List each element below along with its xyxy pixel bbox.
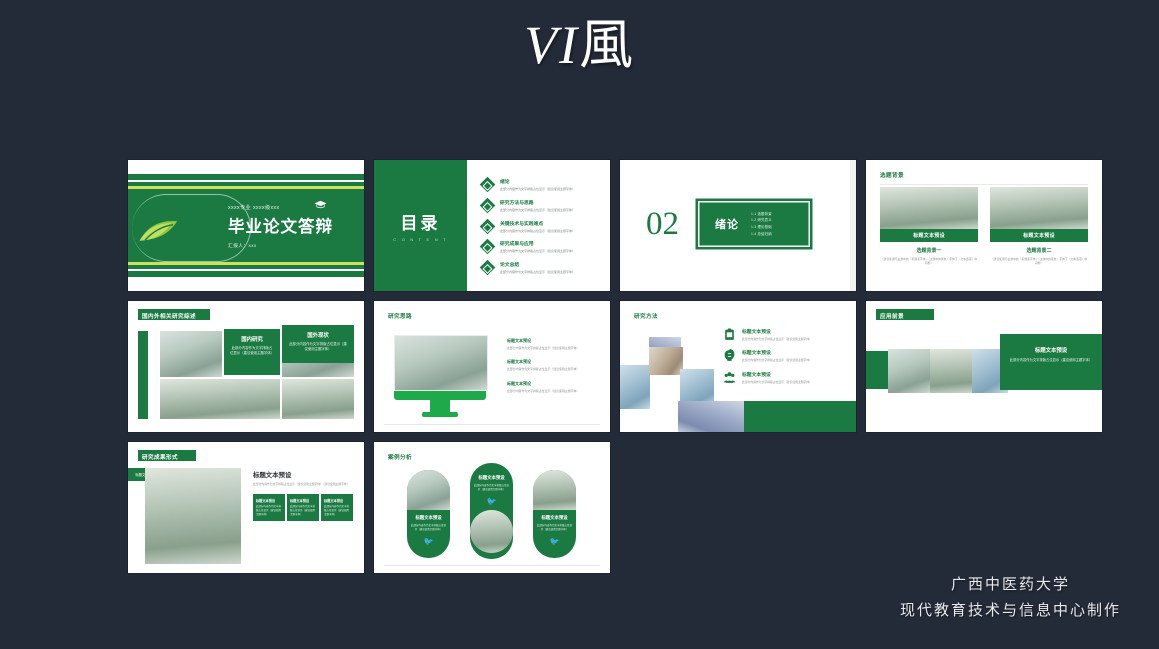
list-item-label: 研究方法与思路 bbox=[500, 199, 575, 206]
list-item-heading: 标题文本预设 bbox=[507, 359, 595, 365]
slide-thumbnail-literature-review[interactable]: 国内外相关研究综述 国内研究 此部分内容作为文字排版占位显示（建议使用主题字体）… bbox=[128, 301, 364, 432]
slide-thumbnail-section-divider[interactable]: 02 绪论 1.1 选题背景 1.2 研究意义 1.3 理论基础 1.4 总结归… bbox=[620, 160, 856, 291]
case-pill-card[interactable]: 标题文本预设 此部分内容作为文字排版占位显示（建议使用主题字体） 🐦 bbox=[533, 470, 576, 558]
section-subitem: 1.3 理论基础 bbox=[751, 224, 772, 231]
footer-line-1: 广西中医药大学 bbox=[900, 571, 1121, 597]
monitor-neck bbox=[430, 400, 450, 412]
box-body: 此部分内容作为文字排版占位显示（建议使用主题字体） bbox=[290, 505, 316, 516]
slide-thumbnail-research-approach[interactable]: 研究思路 标题文本预设 此部分内容作为文字排版占位显示（建议使用主题字体） 标题… bbox=[374, 301, 610, 432]
card-heading: 国外现状 bbox=[288, 331, 348, 339]
card-heading: 标题文本预设 bbox=[533, 515, 576, 521]
card-label: 标题文本预设 bbox=[880, 229, 978, 242]
list-item-label: 绪论 bbox=[500, 178, 575, 185]
band-yellow-line-bottom bbox=[128, 262, 364, 265]
list-item-desc: 此部分内容作为文字排版占位显示（建议使用主题字体） bbox=[500, 229, 575, 233]
clipboard-icon bbox=[723, 328, 736, 341]
band-white-line-top bbox=[128, 180, 364, 182]
results-text-block: 标题文本预设 此部分内容作为文字排版占位显示（建议使用主题字体）（建议使用主题字… bbox=[253, 470, 353, 521]
list-item[interactable]: 标题文本预设 此部分内容作为文字排版占位显示（建议使用主题字体） bbox=[507, 381, 595, 393]
result-box[interactable]: 标题文本预设 此部分内容作为文字排版占位显示（建议使用主题字体） bbox=[321, 494, 353, 520]
list-item[interactable]: 关键技术与实践难点 此部分内容作为文字排版占位显示（建议使用主题字体） bbox=[482, 220, 602, 233]
list-item[interactable]: 研究方法与思路 此部分内容作为文字排版占位显示（建议使用主题字体） bbox=[482, 199, 602, 212]
photo-placeholder bbox=[649, 347, 683, 375]
section-number: 02 bbox=[646, 206, 679, 243]
panel-body: 此部分内容作为文字排版占位显示（建议使用主题字体） bbox=[1008, 358, 1094, 363]
card-heading: 标题文本预设 bbox=[470, 475, 513, 481]
diamond-bullet-icon bbox=[480, 218, 496, 234]
photo-placeholder bbox=[160, 331, 222, 377]
brand-title: VI風 bbox=[0, 18, 1159, 72]
card-body: 此部分内容作为文字排版占位显示（建议使用主题字体） bbox=[288, 342, 348, 353]
section-subitem: 1.4 总结归纳 bbox=[751, 231, 772, 238]
list-item[interactable]: 论文总结 此部分内容作为文字排版占位显示（建议使用主题字体） bbox=[482, 261, 602, 274]
page-title: 国内外相关研究综述 bbox=[142, 312, 196, 320]
box-body: 此部分内容作为文字排版占位显示（建议使用主题字体） bbox=[324, 505, 350, 516]
page-title: 研究方法 bbox=[634, 312, 658, 320]
list-item[interactable]: 标题文本预设 此部分内容作为文字排版占位显示（建议使用主题字体） bbox=[723, 328, 841, 341]
list-item-heading: 标题文本预设 bbox=[742, 349, 812, 356]
band-yellow-line-top bbox=[128, 186, 364, 189]
list-item[interactable]: 标题文本预设 此部分内容作为文字排版占位显示（建议使用主题字体） bbox=[507, 338, 595, 350]
green-accent-strip bbox=[138, 331, 148, 419]
diamond-bullet-icon bbox=[480, 198, 496, 214]
monitor-base bbox=[394, 391, 486, 400]
contents-title: 目录 bbox=[401, 209, 441, 234]
bird-icon: 🐦 bbox=[470, 497, 513, 506]
box-heading: 标题文本预设 bbox=[324, 498, 350, 503]
card-body: 此部分内容作为文字排版占位显示（建议使用主题字体） bbox=[230, 346, 274, 357]
contents-subtitle: C O N T E N T bbox=[393, 237, 447, 242]
contents-green-panel: 目录 C O N T E N T bbox=[374, 160, 467, 291]
head-brain-icon bbox=[723, 349, 736, 362]
section-subitem: 1.1 选题背景 bbox=[751, 211, 772, 218]
panel-heading: 标题文本预设 bbox=[1008, 346, 1094, 354]
card-subtitle: 选题背景二 bbox=[990, 247, 1088, 254]
monitor-graphic bbox=[394, 335, 486, 417]
list-item-body: 此部分内容作为文字排版占位显示（建议使用主题字体） bbox=[742, 358, 812, 362]
page-title: 应用前景 bbox=[880, 312, 904, 320]
title-text-block: xxxx专业 xxxx级xxx 毕业论文答辩 汇报人：xxx bbox=[228, 204, 333, 249]
list-item-desc: 此部分内容作为文字排版占位显示（建议使用主题字体） bbox=[500, 270, 575, 274]
results-box-row: 标题文本预设 此部分内容作为文字排版占位显示（建议使用主题字体） 标题文本预设 … bbox=[253, 494, 353, 520]
photo-placeholder bbox=[470, 510, 513, 553]
box-heading: 标题文本预设 bbox=[256, 498, 282, 503]
bird-icon: 🐦 bbox=[407, 537, 450, 546]
section-subitem-list: 1.1 选题背景 1.2 研究意义 1.3 理论基础 1.4 总结归纳 bbox=[751, 211, 772, 238]
list-item-body: 此部分内容作为文字排版占位显示（建议使用主题字体） bbox=[742, 380, 812, 384]
section-title: 绪论 bbox=[715, 216, 739, 232]
result-box[interactable]: 标题文本预设 此部分内容作为文字排版占位显示（建议使用主题字体） bbox=[287, 494, 319, 520]
background-card[interactable]: 标题文本预设 选题背景一 （建议使用与主题中的「标题黑字体」（主题中的黑色）字体… bbox=[880, 187, 978, 266]
review-card-overseas[interactable]: 国外现状 此部分内容作为文字排版占位显示（建议使用主题字体） bbox=[282, 325, 354, 363]
brand-prefix: VI bbox=[524, 15, 579, 75]
photo-placeholder bbox=[160, 379, 280, 419]
slide-thumbnail-contents[interactable]: 目录 C O N T E N T 绪论 此部分内容作为文字排版占位显示（建议使用… bbox=[374, 160, 610, 291]
prospect-panel[interactable]: 标题文本预设 此部分内容作为文字排版占位显示（建议使用主题字体） bbox=[1000, 334, 1102, 390]
list-item-body: 此部分内容作为文字排版占位显示（建议使用主题字体） bbox=[507, 346, 595, 350]
background-card[interactable]: 标题文本预设 选题背景二 （建议使用与主题中的「标题黑字体」（主题中的黑色）字体… bbox=[990, 187, 1088, 266]
list-item[interactable]: 标题文本预设 此部分内容作为文字排版占位显示（建议使用主题字体） bbox=[507, 359, 595, 371]
page-title: 毕业论文答辩 bbox=[228, 213, 333, 237]
list-item-label: 研究成果与应用 bbox=[500, 240, 575, 247]
card-body: （建议使用与主题中的「标题黑字体」（主题中的黑色）字体下（文本选项）中间框） bbox=[880, 257, 978, 266]
list-item[interactable]: 标题文本预设 此部分内容作为文字排版占位显示（建议使用主题字体） bbox=[723, 349, 841, 362]
slide-thumbnail-case-analysis[interactable]: 案例分析 标题文本预设 此部分内容作为文字排版占位显示（建议使用主题字体） 🐦 … bbox=[374, 442, 610, 573]
title-presenter: 汇报人：xxx bbox=[228, 242, 333, 249]
card-body: 此部分内容作为文字排版占位显示（建议使用主题字体） bbox=[470, 484, 513, 492]
band-white-line-bottom bbox=[128, 269, 364, 271]
list-item-desc: 此部分内容作为文字排版占位显示（建议使用主题字体） bbox=[500, 187, 575, 191]
footer-credit: 广西中医药大学 现代教育技术与信息中心制作 bbox=[900, 571, 1121, 624]
section-heading: 标题文本预设 bbox=[253, 470, 353, 479]
approach-list: 标题文本预设 此部分内容作为文字排版占位显示（建议使用主题字体） 标题文本预设 … bbox=[507, 338, 595, 402]
diamond-bullet-icon bbox=[480, 177, 496, 193]
green-block bbox=[744, 401, 856, 432]
list-item[interactable]: 研究成果与应用 此部分内容作为文字排版占位显示（建议使用主题字体） bbox=[482, 240, 602, 253]
photo-placeholder bbox=[888, 349, 930, 393]
card-label: 标题文本预设 bbox=[990, 229, 1088, 242]
box-body: 此部分内容作为文字排版占位显示（建议使用主题字体） bbox=[256, 505, 282, 516]
graduation-cap-icon bbox=[314, 200, 327, 209]
list-item-desc: 此部分内容作为文字排版占位显示（建议使用主题字体） bbox=[500, 249, 575, 253]
box-heading: 标题文本预设 bbox=[290, 498, 316, 503]
section-subitem: 1.2 研究意义 bbox=[751, 217, 772, 224]
slide-thumbnail-application-prospect[interactable]: 应用前景 标题文本预设 此部分内容作为文字排版占位显示（建议使用主题字体） bbox=[866, 301, 1102, 432]
leaf-logo bbox=[138, 218, 180, 244]
list-item[interactable]: 绪论 此部分内容作为文字排版占位显示（建议使用主题字体） bbox=[482, 178, 602, 191]
list-item-desc: 此部分内容作为文字排版占位显示（建议使用主题字体） bbox=[500, 208, 575, 212]
photo-placeholder bbox=[930, 349, 972, 393]
card-body: 此部分内容作为文字排版占位显示（建议使用主题字体） bbox=[533, 524, 576, 532]
photo-placeholder bbox=[880, 187, 978, 229]
card-heading: 标题文本预设 bbox=[407, 515, 450, 521]
list-item-heading: 标题文本预设 bbox=[742, 371, 812, 378]
contents-list: 绪论 此部分内容作为文字排版占位显示（建议使用主题字体） 研究方法与思路 此部分… bbox=[482, 178, 602, 282]
card-body: （建议使用与主题中的「标题黑字体」（主题中的黑色）字体下（文本选项）中间框） bbox=[990, 257, 1088, 266]
case-pill-card[interactable]: 标题文本预设 此部分内容作为文字排版占位显示（建议使用主题字体） 🐦 bbox=[470, 463, 513, 559]
list-item-body: 此部分内容作为文字排版占位显示（建议使用主题字体） bbox=[742, 337, 812, 341]
card-subtitle: 选题背景一 bbox=[880, 247, 978, 254]
list-item-label: 论文总结 bbox=[500, 261, 575, 268]
page-title: 案例分析 bbox=[388, 453, 412, 461]
title-rule bbox=[880, 184, 1088, 185]
slide-right-edge bbox=[850, 160, 856, 291]
footer-line-2: 现代教育技术与信息中心制作 bbox=[900, 597, 1121, 623]
result-box[interactable]: 标题文本预设 此部分内容作为文字排版占位显示（建议使用主题字体） bbox=[253, 494, 285, 520]
list-item-body: 此部分内容作为文字排版占位显示（建议使用主题字体） bbox=[507, 389, 595, 393]
case-pill-card[interactable]: 标题文本预设 此部分内容作为文字排版占位显示（建议使用主题字体） 🐦 bbox=[407, 470, 450, 558]
photo-placeholder bbox=[145, 468, 241, 564]
review-card-domestic[interactable]: 国内研究 此部分内容作为文字排版占位显示（建议使用主题字体） bbox=[224, 329, 280, 375]
photo-placeholder bbox=[620, 365, 650, 409]
bird-icon: 🐦 bbox=[533, 537, 576, 546]
list-item-heading: 标题文本预设 bbox=[507, 338, 595, 344]
brand-suffix: 風 bbox=[579, 13, 635, 76]
page-title: 选题背景 bbox=[880, 171, 904, 179]
photo-placeholder bbox=[282, 379, 354, 419]
bottom-rule bbox=[384, 424, 600, 425]
people-group-icon bbox=[723, 371, 736, 384]
page-title: 研究思路 bbox=[388, 312, 412, 320]
card-heading: 国内研究 bbox=[230, 335, 274, 343]
list-item-body: 此部分内容作为文字排版占位显示（建议使用主题字体） bbox=[507, 367, 595, 371]
slide-thumbnail-background[interactable]: 选题背景 标题文本预设 选题背景一 （建议使用与主题中的「标题黑字体」（主题中的… bbox=[866, 160, 1102, 291]
photo-placeholder bbox=[407, 470, 450, 510]
photo-placeholder bbox=[990, 187, 1088, 229]
slide-thumbnail-results-form[interactable]: 研究成果形式 标题文本 标题文本预设 此部分内容作为文字排版占位显示（建议使用主… bbox=[128, 442, 364, 573]
photo-placeholder bbox=[394, 335, 488, 391]
list-item[interactable]: 标题文本预设 此部分内容作为文字排版占位显示（建议使用主题字体） bbox=[723, 371, 841, 384]
photo-placeholder bbox=[678, 401, 744, 432]
section-title-box: 绪论 1.1 选题背景 1.2 研究意义 1.3 理论基础 1.4 总结归纳 bbox=[698, 201, 810, 247]
diamond-bullet-icon bbox=[480, 260, 496, 276]
list-item-label: 关键技术与实践难点 bbox=[500, 220, 575, 227]
diamond-bullet-icon bbox=[480, 239, 496, 255]
title-green-band: xxxx专业 xxxx级xxx 毕业论文答辩 汇报人：xxx bbox=[128, 174, 364, 277]
slide-thumbnail-grid: xxxx专业 xxxx级xxx 毕业论文答辩 汇报人：xxx 目录 C O N … bbox=[128, 160, 1112, 573]
monitor-foot bbox=[422, 412, 458, 417]
list-item-heading: 标题文本预设 bbox=[507, 381, 595, 387]
section-desc: 此部分内容作为文字排版占位显示（建议使用主题字体）（建议使用主题字体） bbox=[253, 482, 353, 486]
method-list: 标题文本预设 此部分内容作为文字排版占位显示（建议使用主题字体） 标题文本预设 … bbox=[723, 328, 841, 392]
card-body: 此部分内容作为文字排版占位显示（建议使用主题字体） bbox=[407, 524, 450, 532]
slide-thumbnail-title[interactable]: xxxx专业 xxxx级xxx 毕业论文答辩 汇报人：xxx bbox=[128, 160, 364, 291]
page-title: 研究成果形式 bbox=[142, 453, 178, 461]
photo-placeholder bbox=[533, 470, 576, 510]
list-item-heading: 标题文本预设 bbox=[742, 328, 812, 335]
bottom-rule bbox=[384, 565, 600, 566]
slide-thumbnail-research-method[interactable]: 研究方法 标题文本预设 此部分内容作为文字排版占位显示（建议使用主题字体） bbox=[620, 301, 856, 432]
